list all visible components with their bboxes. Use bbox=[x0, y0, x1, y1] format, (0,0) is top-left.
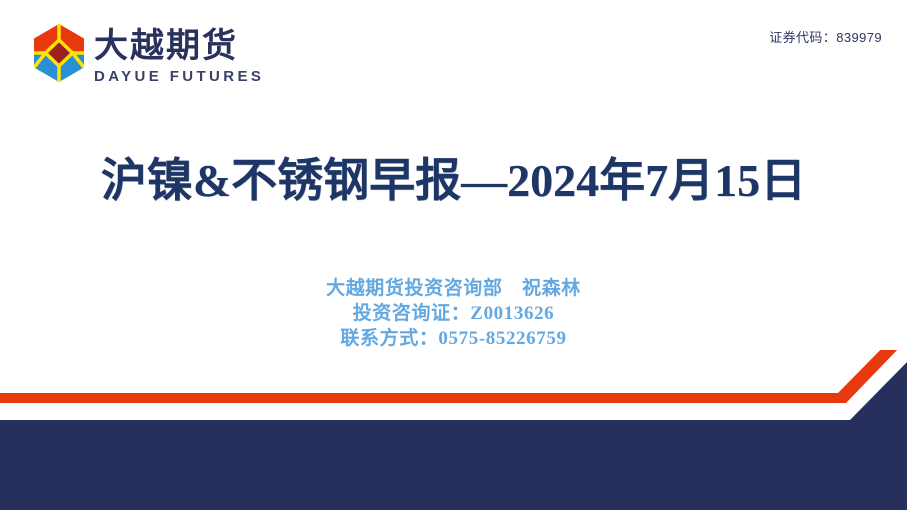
orange-stripe bbox=[0, 350, 907, 403]
dayue-futures-logo-icon bbox=[34, 24, 84, 82]
bottom-decoration bbox=[0, 350, 907, 510]
contact-phone: 联系方式：0575-85226759 bbox=[0, 326, 907, 351]
author-info-block: 大越期货投资咨询部 祝森林 投资咨询证：Z0013626 联系方式：0575-8… bbox=[0, 276, 907, 351]
brand-name-cn: 大越期货 bbox=[94, 27, 264, 65]
navy-band bbox=[0, 362, 907, 510]
consulting-license: 投资咨询证：Z0013626 bbox=[0, 301, 907, 326]
slide-cover: 大越期货 DAYUE FUTURES 证券代码：839979 沪镍&不锈钢早报—… bbox=[0, 0, 907, 510]
security-code-label: 证券代码：839979 bbox=[769, 27, 882, 46]
brand-name-en: DAYUE FUTURES bbox=[94, 68, 264, 86]
brand-wordmark: 大越期货 DAYUE FUTURES bbox=[94, 24, 264, 86]
brand-block: 大越期货 DAYUE FUTURES bbox=[34, 24, 264, 86]
department-and-author: 大越期货投资咨询部 祝森林 bbox=[0, 276, 907, 301]
page-title: 沪镍&不锈钢早报—2024年7月15日 bbox=[0, 152, 907, 210]
